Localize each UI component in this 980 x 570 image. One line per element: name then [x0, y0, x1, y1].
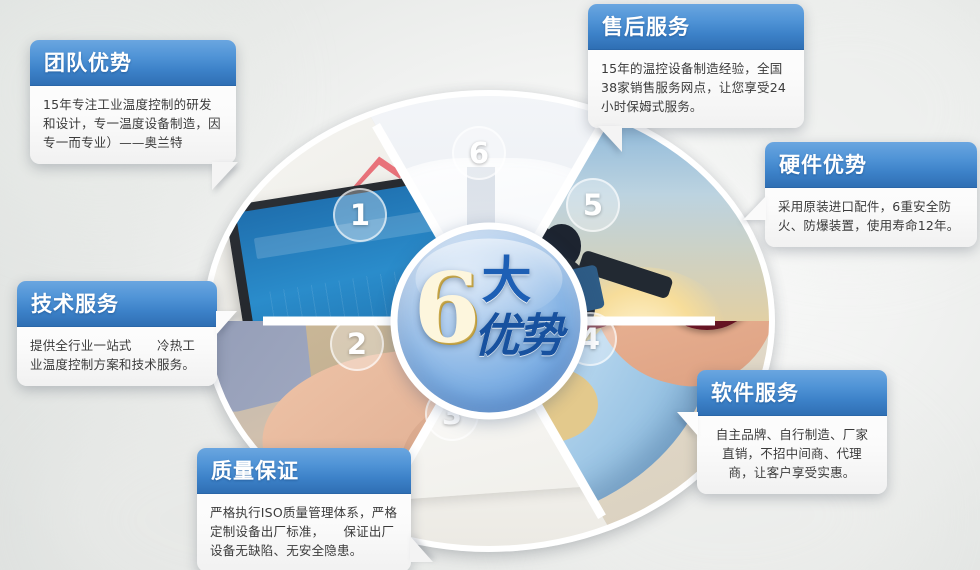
- marker-6[interactable]: 6: [452, 126, 506, 180]
- callout-software-body: 自主品牌、自行制造、厂家直销，不招中间商、代理商，让客户享受实惠。: [697, 416, 887, 494]
- callout-tail: [212, 162, 238, 190]
- callout-after-sales[interactable]: 售后服务 15年的温控设备制造经验，全国38家销售服务网点，让您享受24小时保姆…: [588, 4, 804, 128]
- center-badge[interactable]: 6 大 优势: [391, 223, 588, 420]
- center-big-char: 大: [482, 256, 532, 306]
- callout-tail: [216, 311, 237, 335]
- center-subtext: 优势: [474, 312, 562, 360]
- callout-technical[interactable]: 技术服务 提供全行业一站式 冷热工业温度控制方案和技术服务。: [17, 281, 217, 386]
- marker-1[interactable]: 1: [333, 188, 387, 242]
- callout-team[interactable]: 团队优势 15年专注工业温度控制的研发和设计，专一温度设备制造，因专一而专业）—…: [30, 40, 236, 164]
- marker-1-label: 1: [350, 198, 370, 232]
- marker-5-label: 5: [583, 188, 603, 222]
- callout-quality-title: 质量保证: [197, 448, 411, 494]
- marker-6-label: 6: [469, 136, 489, 170]
- callout-software-title: 软件服务: [697, 370, 887, 416]
- callout-after-sales-body: 15年的温控设备制造经验，全国38家销售服务网点，让您享受24小时保姆式服务。: [588, 50, 804, 128]
- callout-hardware[interactable]: 硬件优势 采用原装进口配件，6重安全防火、防爆装置，使用寿命12年。: [765, 142, 977, 247]
- center-badge-inner: 6 大 优势: [398, 230, 581, 413]
- callout-quality-body: 严格执行ISO质量管理体系，严格定制设备出厂标准， 保证出厂设备无缺陷、无安全隐…: [197, 494, 411, 570]
- callout-hardware-title: 硬件优势: [765, 142, 977, 188]
- callout-team-title: 团队优势: [30, 40, 236, 86]
- marker-5[interactable]: 5: [566, 178, 620, 232]
- callout-tail: [598, 126, 622, 152]
- callout-hardware-body: 采用原装进口配件，6重安全防火、防爆装置，使用寿命12年。: [765, 188, 977, 247]
- infographic-stage: 1 2 3 4 5 6 6 大 优势 团队优势 15年专注工业温度控制的研发和设…: [0, 0, 980, 570]
- callout-tail: [743, 196, 766, 220]
- marker-2-label: 2: [347, 327, 367, 361]
- callout-tail: [677, 412, 698, 436]
- callout-technical-title: 技术服务: [17, 281, 217, 327]
- callout-software[interactable]: 软件服务 自主品牌、自行制造、厂家直销，不招中间商、代理商，让客户享受实惠。: [697, 370, 887, 494]
- marker-2[interactable]: 2: [330, 317, 384, 371]
- callout-technical-body: 提供全行业一站式 冷热工业温度控制方案和技术服务。: [17, 327, 217, 386]
- callout-quality[interactable]: 质量保证 严格执行ISO质量管理体系，严格定制设备出厂标准， 保证出厂设备无缺陷…: [197, 448, 411, 570]
- callout-tail: [410, 536, 433, 562]
- callout-team-body: 15年专注工业温度控制的研发和设计，专一温度设备制造，因专一而专业）——奥兰特: [30, 86, 236, 164]
- callout-after-sales-title: 售后服务: [588, 4, 804, 50]
- center-numeral: 6: [414, 264, 481, 354]
